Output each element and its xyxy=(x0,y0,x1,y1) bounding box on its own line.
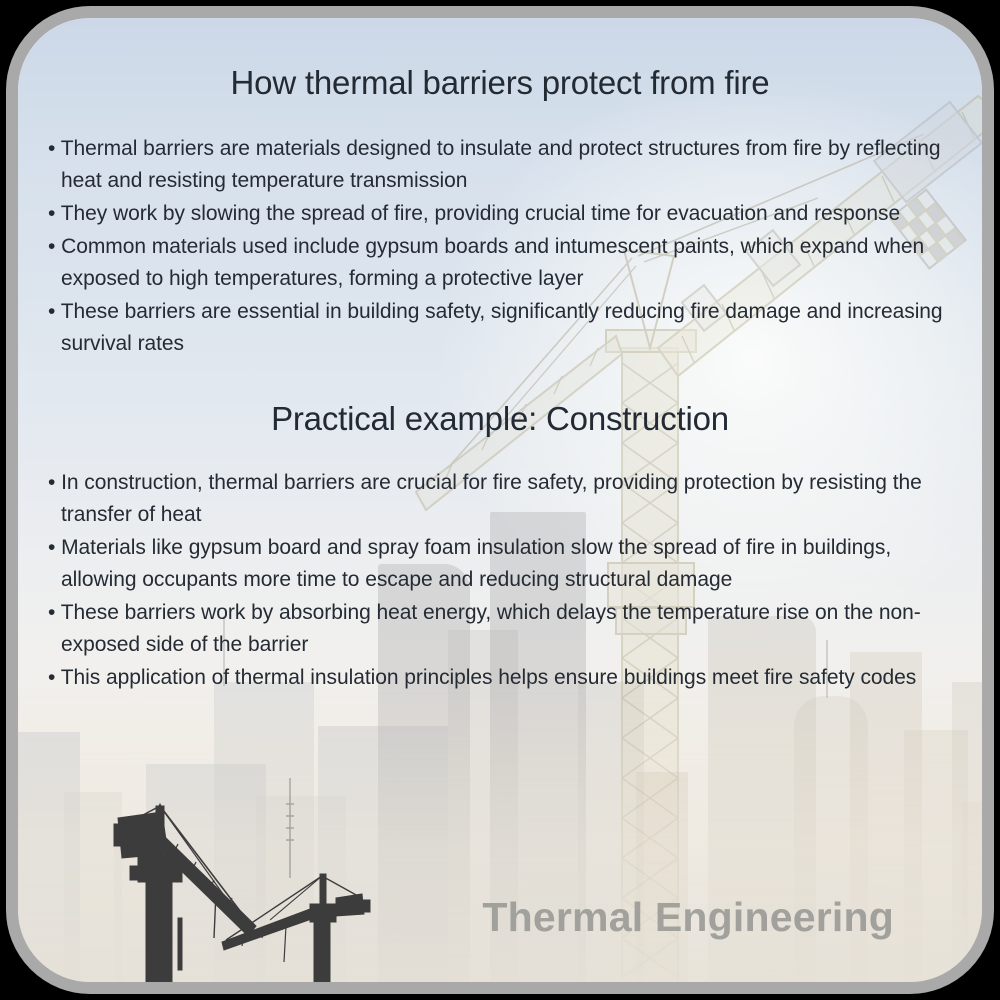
card-inner: How thermal barriers protect from fire •… xyxy=(18,18,982,982)
card-frame: How thermal barriers protect from fire •… xyxy=(6,6,994,994)
page-title: How thermal barriers protect from fire xyxy=(48,62,952,103)
bullet-list-secondary: • In construction, thermal barriers are … xyxy=(48,467,952,694)
list-item: • These barriers are essential in buildi… xyxy=(48,296,952,360)
list-item: • These barriers work by absorbing heat … xyxy=(48,597,952,661)
list-item: • This application of thermal insulation… xyxy=(48,662,952,694)
list-item: • Thermal barriers are materials designe… xyxy=(48,133,952,197)
slide-content: How thermal barriers protect from fire •… xyxy=(18,18,982,982)
section-title: Practical example: Construction xyxy=(48,398,952,439)
watermark-label: Thermal Engineering xyxy=(482,897,894,938)
list-item: • Common materials used include gypsum b… xyxy=(48,231,952,295)
list-item: • Materials like gypsum board and spray … xyxy=(48,532,952,596)
list-item: • They work by slowing the spread of fir… xyxy=(48,198,952,230)
bullet-list-primary: • Thermal barriers are materials designe… xyxy=(48,133,952,360)
list-item: • In construction, thermal barriers are … xyxy=(48,467,952,531)
